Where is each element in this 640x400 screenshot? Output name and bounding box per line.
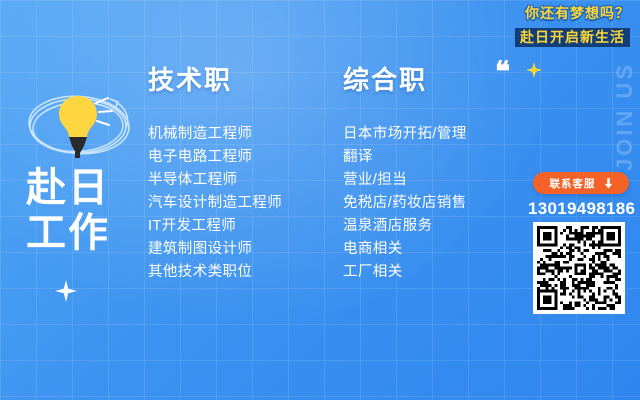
column-technical: 技术职 机械制造工程师 电子电路工程师 半导体工程师 汽车设计制造工程师 IT开… [148, 60, 328, 284]
list-item: 免税店/药妆店销售 [343, 192, 523, 215]
phone-number[interactable]: 13019498186 [528, 199, 634, 219]
sparkle-icon [55, 280, 77, 302]
contact-support-label: 联系客服 [550, 176, 596, 191]
job-list-general: 日本市场开拓/管理 翻译 营业/担当 免税店/药妆店销售 温泉酒店服务 电商相关… [343, 123, 523, 284]
list-item: 机械制造工程师 [148, 123, 328, 146]
list-item: 半导体工程师 [148, 169, 328, 192]
list-item: 汽车设计制造工程师 [148, 192, 328, 215]
list-item: 其他技术类职位 [148, 261, 328, 284]
page-title: 赴日 工作 [26, 166, 110, 256]
list-item: 电子电路工程师 [148, 146, 328, 169]
join-us-watermark: JOIN US [612, 62, 638, 171]
slogan-line-1: 你还有梦想吗？ [525, 6, 630, 20]
contact-support-button[interactable]: 联系客服 [533, 172, 629, 194]
job-list-technical: 机械制造工程师 电子电路工程师 半导体工程师 汽车设计制造工程师 IT开发工程师… [148, 123, 328, 284]
brand-title-line-1: 赴日 [26, 166, 110, 211]
list-item: 营业/担当 [343, 169, 523, 192]
lightbulb-logo [18, 82, 138, 164]
column-general: 综合职 日本市场开拓/管理 翻译 营业/担当 免税店/药妆店销售 温泉酒店服务 … [343, 60, 523, 284]
slogan-line-2: 赴日开启新生活 [515, 28, 630, 47]
list-item: 温泉酒店服务 [343, 215, 523, 238]
brand-title-line-2: 工作 [26, 211, 110, 256]
list-item: 工厂相关 [343, 261, 523, 284]
qr-code[interactable] [533, 222, 625, 314]
column-heading-general: 综合职 [343, 60, 523, 97]
qr-code-image [537, 226, 621, 310]
four-point-star-icon [526, 62, 542, 78]
list-item: IT开发工程师 [148, 215, 328, 238]
arrow-down-icon [604, 178, 613, 189]
list-item: 电商相关 [343, 238, 523, 261]
list-item: 翻译 [343, 146, 523, 169]
poster-canvas: 你还有梦想吗？ 赴日开启新生活 JOIN US ❝ [0, 0, 640, 400]
column-heading-technical: 技术职 [148, 60, 328, 97]
lightbulb-icon [18, 82, 138, 164]
slogan-block: 你还有梦想吗？ 赴日开启新生活 [515, 6, 630, 47]
list-item: 日本市场开拓/管理 [343, 123, 523, 146]
list-item: 建筑制图设计师 [148, 238, 328, 261]
